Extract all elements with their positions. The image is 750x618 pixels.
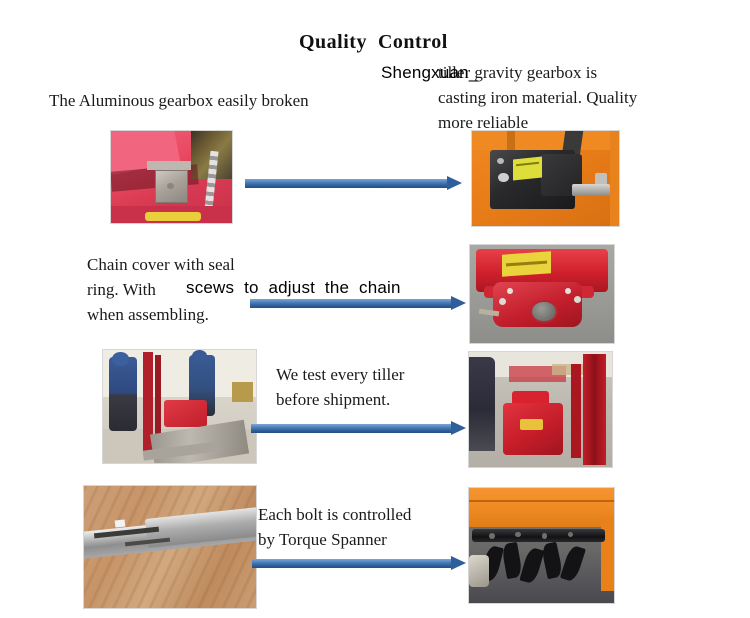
- photo-torque-spanner: [84, 486, 256, 608]
- row4-center-caption: Each bolt is controlled by Torque Spanne…: [258, 502, 488, 552]
- photo-chain-cover: [470, 245, 614, 343]
- photo-cast-iron-gearbox: [472, 131, 619, 226]
- photo-aluminium-gearbox: [111, 131, 232, 223]
- right-arrow-1: [245, 176, 462, 190]
- photo-factory-testing: [103, 350, 256, 463]
- page-title: Quality Control: [299, 31, 448, 54]
- photo-tiller-tines: [469, 488, 614, 603]
- quality-control-poster: Quality Control The Aluminous gearbox ea…: [0, 0, 750, 618]
- row1-overlay-watermark: Shengxuan_: [381, 62, 478, 84]
- photo-shipment-tiller: [469, 352, 612, 467]
- right-arrow-3: [251, 421, 466, 435]
- row1-left-caption: The Aluminous gearbox easily broken: [49, 88, 389, 113]
- right-arrow-2: [250, 296, 466, 310]
- right-arrow-4: [252, 556, 466, 570]
